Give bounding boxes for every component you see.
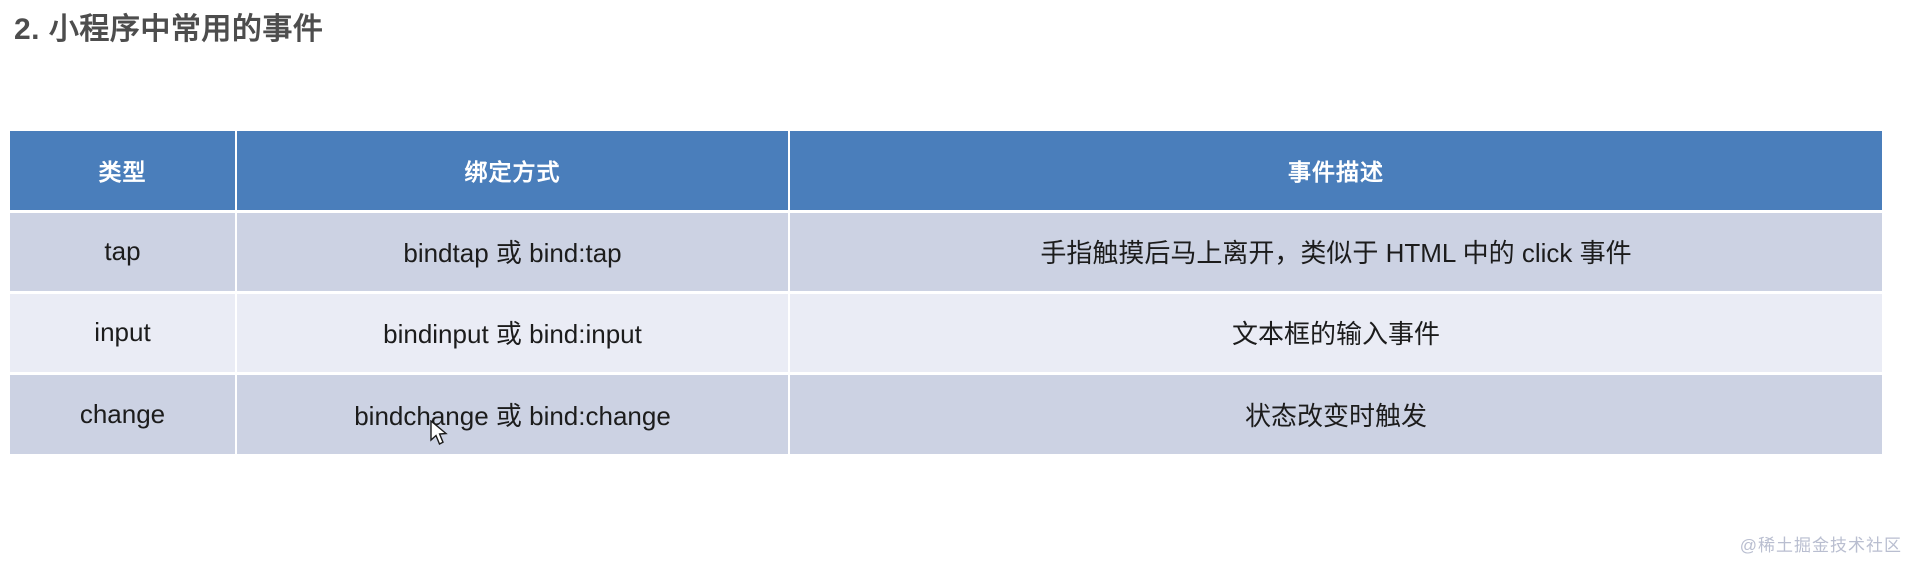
cell-event-type: change — [10, 373, 236, 454]
column-header-binding: 绑定方式 — [236, 131, 789, 211]
cell-event-binding: bindinput 或 bind:input — [236, 292, 789, 373]
table-header: 类型 绑定方式 事件描述 — [10, 131, 1882, 211]
cell-event-description: 状态改变时触发 — [789, 373, 1882, 454]
cell-event-description: 文本框的输入事件 — [789, 292, 1882, 373]
cell-event-binding: bindtap 或 bind:tap — [236, 211, 789, 292]
table-header-row: 类型 绑定方式 事件描述 — [10, 131, 1882, 211]
column-header-description: 事件描述 — [789, 131, 1882, 211]
table-row: change bindchange 或 bind:change 状态改变时触发 — [10, 373, 1882, 454]
cell-event-description: 手指触摸后马上离开，类似于 HTML 中的 click 事件 — [789, 211, 1882, 292]
table-row: tap bindtap 或 bind:tap 手指触摸后马上离开，类似于 HTM… — [10, 211, 1882, 292]
table-body: tap bindtap 或 bind:tap 手指触摸后马上离开，类似于 HTM… — [10, 211, 1882, 454]
cell-event-type: tap — [10, 211, 236, 292]
page-title: 2. 小程序中常用的事件 — [14, 4, 323, 48]
column-header-type: 类型 — [10, 131, 236, 211]
cell-event-type: input — [10, 292, 236, 373]
events-table: 类型 绑定方式 事件描述 tap bindtap 或 bind:tap 手指触摸… — [10, 131, 1882, 454]
table-row: input bindinput 或 bind:input 文本框的输入事件 — [10, 292, 1882, 373]
cell-event-binding: bindchange 或 bind:change — [236, 373, 789, 454]
watermark: @稀土掘金技术社区 — [1740, 531, 1902, 556]
